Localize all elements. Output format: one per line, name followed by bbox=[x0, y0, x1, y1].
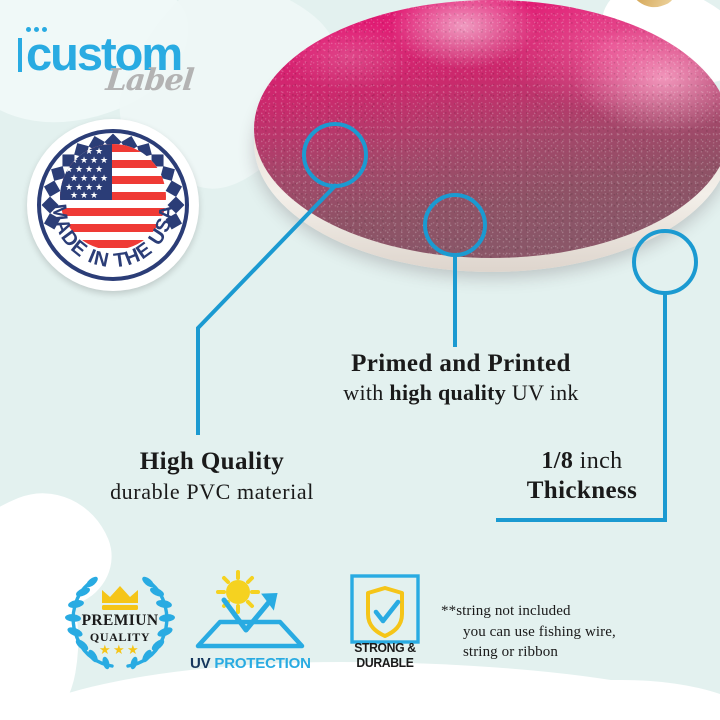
disclaimer-line2: you can use fishing wire, bbox=[441, 622, 616, 643]
product-infographic: custom Label bbox=[0, 0, 720, 720]
product-image bbox=[236, 0, 720, 317]
callout-thickness-line2: Thickness bbox=[492, 476, 672, 506]
svg-text:★: ★ bbox=[70, 191, 78, 201]
callout-pvc-line1: High Quality bbox=[52, 447, 372, 477]
crown-icon bbox=[102, 586, 138, 610]
callout-pvc: High Quality durable PVC material bbox=[52, 447, 372, 504]
badge-strong-durable: STRONG & DURABLE bbox=[330, 574, 440, 670]
star-rating-icon: ★ ★ ★ bbox=[99, 643, 139, 658]
badge-premium-quality: ★ ★ ★ PREMIUN QUALITY bbox=[58, 566, 182, 672]
badge-uv-caption: UV PROTECTION bbox=[190, 655, 310, 672]
badge-premium-subtitle: QUALITY bbox=[90, 630, 150, 644]
badge-durable-caption: STRONG & DURABLE bbox=[333, 640, 436, 670]
disclaimer-line1: **string not included bbox=[441, 603, 571, 619]
made-in-usa-badge: ★★★★ ★★★★ ★★★★ ★★★★ ★★★★ ★★★ MADE IN THE… bbox=[27, 119, 199, 291]
callout-thickness-line1: 1/8 inch bbox=[492, 447, 672, 475]
brand-logo[interactable]: custom Label bbox=[14, 22, 229, 98]
badge-uv-protection: UV PROTECTION bbox=[190, 570, 310, 672]
gold-string-icon bbox=[621, 0, 681, 14]
laurel-wreath-crown-icon: ★ ★ ★ PREMIUN QUALITY bbox=[58, 566, 182, 672]
sun-deflect-arrow-icon bbox=[190, 570, 310, 654]
callout-printed-line1: Primed and Printed bbox=[300, 349, 622, 379]
watercolor-wash-bottom-right bbox=[300, 680, 720, 720]
logo-secondary-text: Label bbox=[104, 66, 194, 96]
usa-flag-icon: ★★★★ ★★★★ ★★★★ ★★★★ ★★★★ ★★★ MADE IN THE… bbox=[27, 119, 199, 291]
product-disc-texture bbox=[254, 0, 720, 258]
svg-text:★: ★ bbox=[113, 643, 125, 658]
callout-printed-line2: with high quality UV ink bbox=[300, 380, 622, 406]
callout-printed: Primed and Printed with high quality UV … bbox=[300, 349, 622, 405]
callout-thickness: 1/8 inch Thickness bbox=[492, 447, 672, 506]
disclaimer-note: **string not included you can use fishin… bbox=[441, 601, 616, 663]
svg-text:★: ★ bbox=[99, 643, 111, 658]
sun-icon bbox=[218, 572, 258, 612]
callout-pvc-line2: durable PVC material bbox=[52, 479, 372, 505]
svg-text:★: ★ bbox=[80, 191, 88, 201]
vertical-bar-icon bbox=[18, 38, 22, 72]
svg-text:★: ★ bbox=[90, 191, 98, 201]
disclaimer-line3: string or ribbon bbox=[441, 642, 616, 663]
shield-check-icon bbox=[330, 574, 440, 650]
svg-text:★: ★ bbox=[127, 643, 139, 658]
badge-premium-title: PREMIUN bbox=[82, 612, 159, 629]
